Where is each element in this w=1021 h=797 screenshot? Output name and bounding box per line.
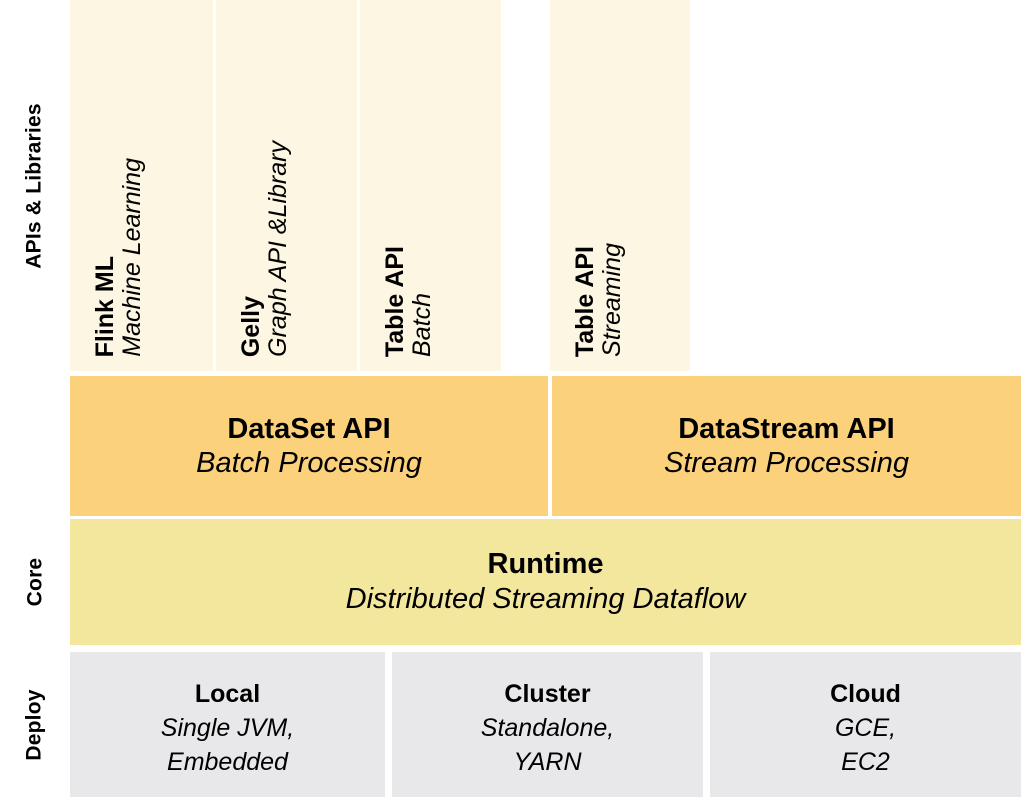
library-card-table-api-batch-text: Table API Batch (360, 0, 501, 357)
library-card-gelly-inner: Gelly Graph API &Library (216, 0, 357, 357)
library-card-table-api-streaming-inner: Table API Streaming (550, 0, 690, 357)
core-card-runtime[interactable]: Runtime Distributed Streaming Dataflow (70, 519, 1021, 645)
library-card-flink-ml-text: Flink ML Machine Learning (70, 0, 213, 357)
library-card-gelly-text: Gelly Graph API &Library (216, 0, 357, 357)
axis-label-deploy: Deploy (0, 652, 70, 797)
api-subtitle-dataset: Batch Processing (196, 446, 422, 480)
axis-label-deploy-text: Deploy (23, 689, 47, 760)
deploy-subtitle-cluster-line2: YARN (513, 746, 581, 780)
library-card-gelly[interactable]: Gelly Graph API &Library (216, 0, 357, 371)
deploy-subtitle-cloud-line1: GCE, (835, 712, 896, 746)
deploy-subtitle-cloud-line2: EC2 (841, 746, 890, 780)
library-subtitle-flink-ml: Machine Learning (119, 158, 146, 357)
library-title-gelly: Gelly (238, 296, 265, 357)
deploy-card-cluster[interactable]: Cluster Standalone, YARN (392, 652, 703, 797)
library-card-flink-ml-inner: Flink ML Machine Learning (70, 0, 213, 357)
api-title-dataset: DataSet API (227, 412, 390, 446)
axis-label-apis-libraries: APIs & Libraries (0, 0, 70, 371)
core-subtitle-runtime: Distributed Streaming Dataflow (346, 582, 746, 617)
axis-label-core: Core (0, 519, 70, 645)
api-title-datastream: DataStream API (678, 412, 895, 446)
library-subtitle-gelly: Graph API &Library (265, 141, 292, 357)
deploy-subtitle-cluster-line1: Standalone, (481, 712, 614, 746)
deploy-card-cloud[interactable]: Cloud GCE, EC2 (710, 652, 1021, 797)
axis-label-apis-libraries-text: APIs & Libraries (23, 103, 47, 268)
library-title-table-api-batch: Table API (382, 246, 409, 357)
library-subtitle-table-api-streaming: Streaming (599, 243, 626, 357)
deploy-title-cloud: Cloud (830, 678, 901, 712)
library-card-table-api-batch-inner: Table API Batch (360, 0, 501, 357)
api-card-datastream[interactable]: DataStream API Stream Processing (552, 376, 1021, 516)
axis-label-core-text: Core (23, 558, 47, 607)
library-title-flink-ml: Flink ML (92, 256, 119, 357)
deploy-subtitle-local-line1: Single JVM, (161, 712, 294, 746)
deploy-title-local: Local (195, 678, 260, 712)
core-title-runtime: Runtime (488, 547, 604, 582)
library-title-table-api-streaming: Table API (572, 246, 599, 357)
deploy-card-local[interactable]: Local Single JVM, Embedded (70, 652, 385, 797)
deploy-subtitle-local-line2: Embedded (167, 746, 288, 780)
library-subtitle-table-api-batch: Batch (409, 293, 436, 357)
library-card-table-api-batch[interactable]: Table API Batch (360, 0, 501, 371)
api-card-dataset[interactable]: DataSet API Batch Processing (70, 376, 548, 516)
deploy-title-cluster: Cluster (504, 678, 590, 712)
library-card-table-api-streaming-text: Table API Streaming (550, 0, 690, 357)
flink-stack-diagram: APIs & Libraries Core Deploy Flink ML Ma… (0, 0, 1021, 797)
library-card-flink-ml[interactable]: Flink ML Machine Learning (70, 0, 213, 371)
api-subtitle-datastream: Stream Processing (664, 446, 909, 480)
library-card-table-api-streaming[interactable]: Table API Streaming (550, 0, 690, 371)
